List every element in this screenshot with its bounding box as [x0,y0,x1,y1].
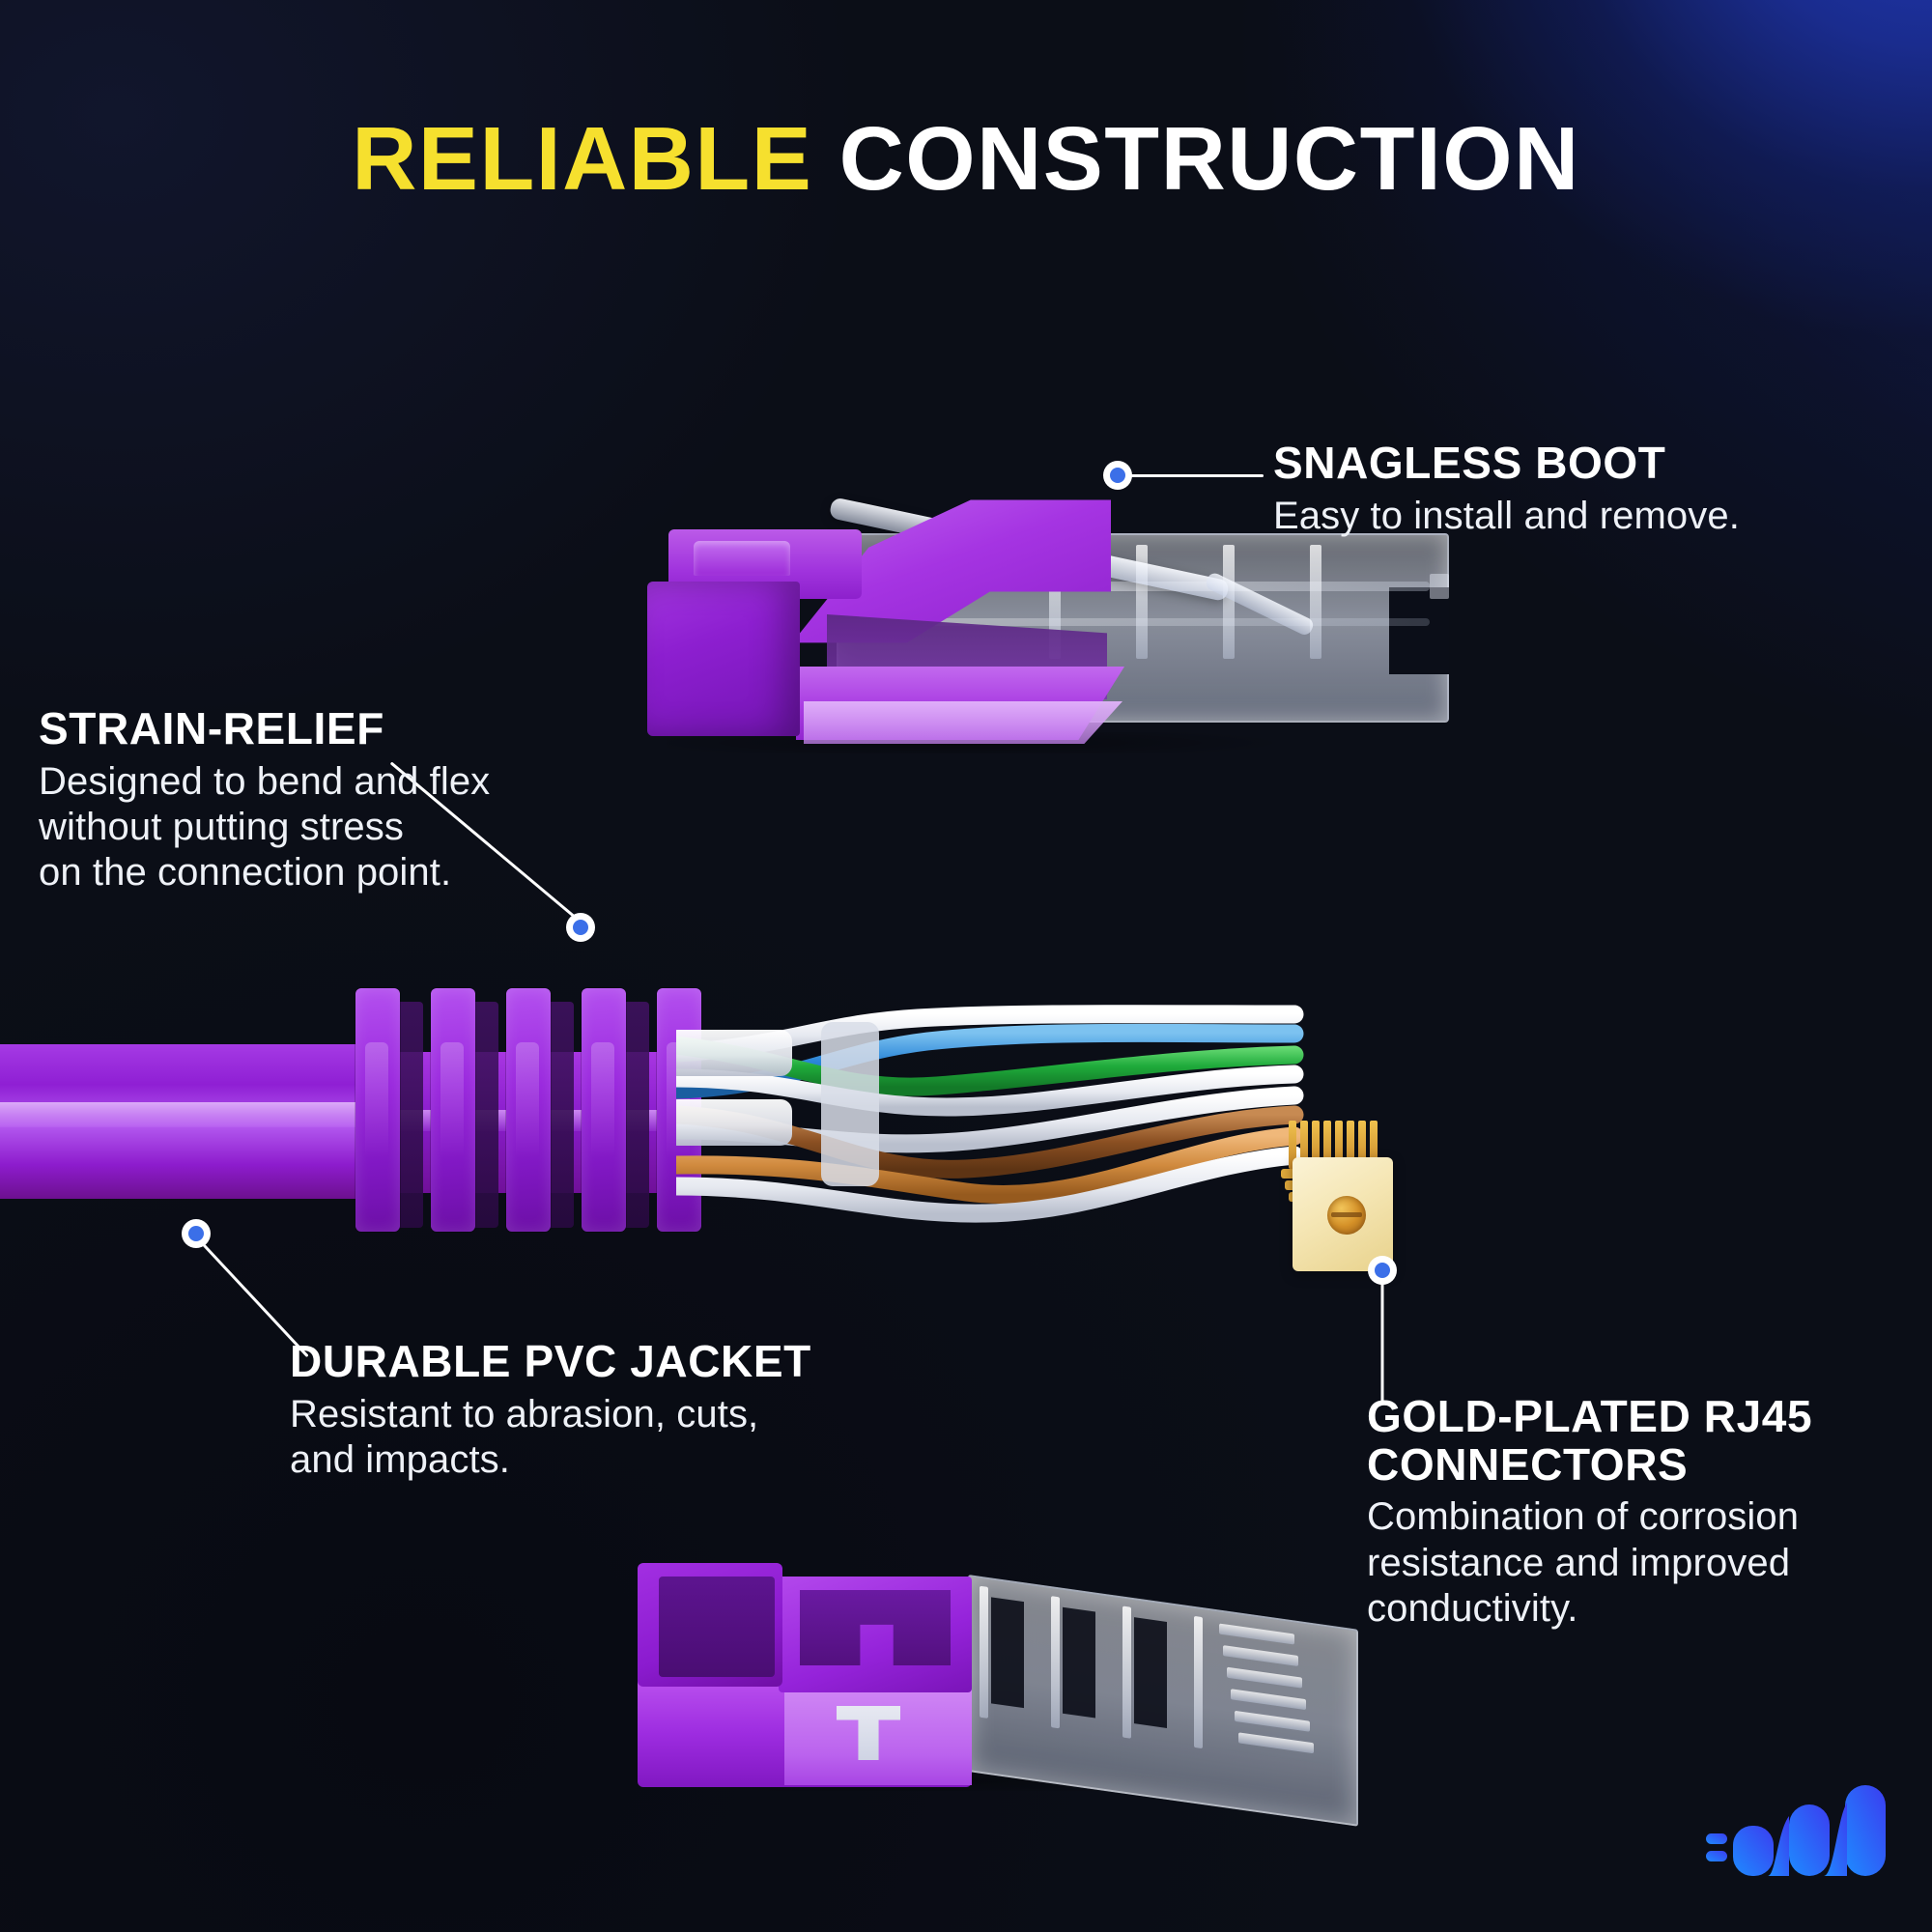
callout-heading: GOLD-PLATED RJ45 CONNECTORS [1367,1393,1879,1489]
bottom-connector-ridge [1219,1624,1294,1645]
snagless-boot-rear-block [647,582,800,736]
leader-line-snagless-boot [1128,474,1264,477]
marker-dot-pvc-jacket [182,1219,211,1248]
callout-body-line: without putting stress [39,805,490,850]
callout-body-line: on the connection point. [39,850,490,895]
callout-body: Designed to bend and flex without puttin… [39,759,490,896]
top-connector-fin [1310,545,1321,659]
marker-dot-snagless-boot [1103,461,1132,490]
marker-dot-gold-connectors [1368,1256,1397,1285]
callout-strain-relief: STRAIN-RELIEF Designed to bend and flex … [39,705,490,895]
callout-body: Combination of corrosion resistance and … [1367,1494,1879,1632]
bottom-connector-slot [1134,1617,1167,1728]
top-connector-housing-cutout [1389,587,1449,674]
bottom-connector-ridge [1223,1645,1298,1666]
title-highlight: RELIABLE [352,108,812,209]
callout-body: Resistant to abrasion, cuts, and impacts… [290,1392,811,1483]
callout-heading: STRAIN-RELIEF [39,705,490,753]
bottom-connector-divider [1051,1596,1060,1728]
bottom-connector-slot [1063,1607,1095,1719]
snagless-boot-highlight-face [804,701,1122,744]
callout-body-line: Combination of corrosion [1367,1494,1879,1540]
callout-body: Easy to install and remove. [1273,494,1740,539]
callout-body-line: Easy to install and remove. [1273,494,1740,539]
callout-heading: DURABLE PVC JACKET [290,1338,811,1386]
leader-line-gold-connectors [1381,1279,1384,1405]
callout-body-line: and impacts. [290,1437,811,1483]
callout-heading: SNAGLESS BOOT [1273,440,1740,488]
callout-body-line: resistance and improved [1367,1541,1879,1586]
callout-body-line: conductivity. [1367,1586,1879,1632]
bottom-connector-ridge [1227,1667,1302,1689]
callout-body-line: Resistant to abrasion, cuts, [290,1392,811,1437]
bottom-connector-divider [980,1586,988,1719]
snagless-boot-clip [694,541,790,576]
bottom-boot-inner-opening [659,1577,775,1677]
twisted-pair-wires [676,985,1352,1304]
infographic-canvas: RELIABLE CONSTRUCTION [0,0,1932,1932]
callout-snagless-boot: SNAGLESS BOOT Easy to install and remove… [1273,440,1740,539]
strain-relief-fin [355,988,400,1232]
bottom-connector-ridge [1235,1711,1310,1732]
gold-plug-crimp-dot [1327,1196,1366,1235]
bottom-connector-ridge [1238,1732,1314,1753]
marker-dot-strain-relief [566,913,595,942]
top-connector-housing-notch [1430,574,1449,599]
brand-logo [1700,1783,1893,1889]
pvc-jacket-highlight [0,1102,373,1127]
bottom-connector-divider [1122,1605,1131,1738]
top-connector-fin [1223,545,1235,659]
rj45-connector-bottom-illustration [638,1536,1352,1787]
callout-body-line: Designed to bend and flex [39,759,490,805]
strain-relief-fin [506,988,551,1232]
strain-relief-fin [582,988,626,1232]
strain-relief-fin [431,988,475,1232]
callout-durable-pvc-jacket: DURABLE PVC JACKET Resistant to abrasion… [290,1338,811,1483]
title-rest: CONSTRUCTION [839,108,1580,209]
callout-gold-plated-rj45-connectors: GOLD-PLATED RJ45 CONNECTORS Combination … [1367,1393,1879,1632]
page-title: RELIABLE CONSTRUCTION [0,114,1932,204]
bottom-connector-ridge [1231,1689,1306,1710]
bottom-connector-slot [991,1597,1024,1708]
bottom-connector-divider [1194,1616,1203,1748]
